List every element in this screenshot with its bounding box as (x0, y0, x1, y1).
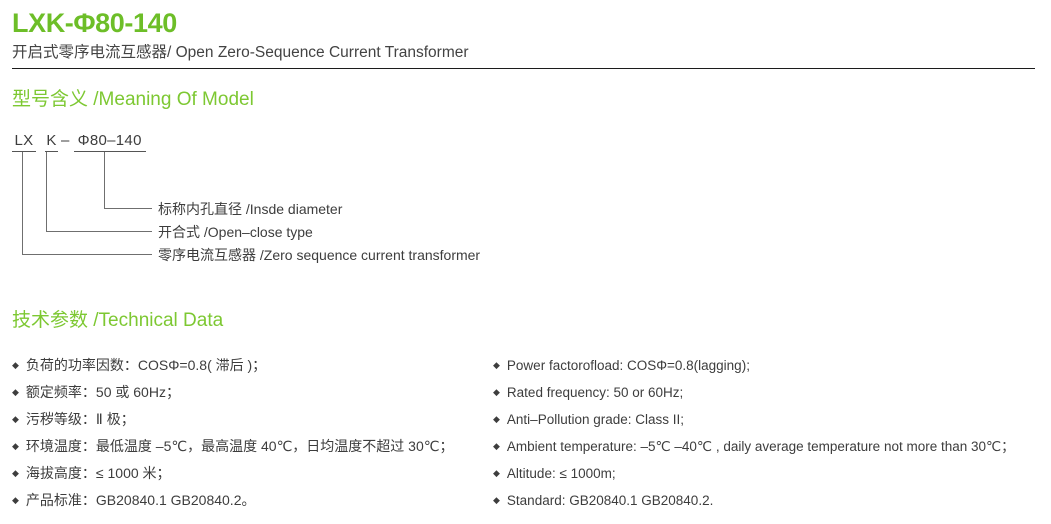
spec-text: 海拔高度：≤ 1000 米； (26, 460, 171, 487)
diamond-bullet-icon: ◆ (12, 406, 19, 433)
diamond-bullet-icon: ◆ (493, 352, 500, 379)
model-code-segment-type: K (45, 132, 58, 152)
spec-row: ◆ 海拔高度：≤ 1000 米； (12, 460, 482, 487)
callout-label-open-close: 开合式 /Open–close type (158, 224, 313, 241)
spec-row: ◆ 环境温度：最低温度 –5℃，最高温度 40℃，日均温度不超过 30℃； (12, 433, 482, 460)
spec-row: ◆ 负荷的功率因数：COSΦ=0.8( 滞后 )； (12, 352, 482, 379)
spec-text: Power factorofload: COSΦ=0.8(lagging); (507, 352, 750, 379)
model-code-segment-prefix: LX (12, 132, 36, 152)
spec-row: ◆ Rated frequency: 50 or 60Hz; (493, 379, 1043, 406)
section-heading-technical-data: 技术参数 /Technical Data (12, 310, 223, 333)
model-meaning-diagram: LXK–Φ80–140 标称内孔直径 /Insde diameter 开合式 /… (0, 125, 1051, 265)
diamond-bullet-icon: ◆ (493, 460, 500, 487)
diamond-bullet-icon: ◆ (493, 379, 500, 406)
spec-row: ◆ 污秽等级：Ⅱ 极； (12, 406, 482, 433)
spec-row: ◆ 额定频率：50 或 60Hz； (12, 379, 482, 406)
spec-text: 环境温度：最低温度 –5℃，最高温度 40℃，日均温度不超过 30℃； (26, 433, 454, 460)
spec-text: Altitude: ≤ 1000m; (507, 460, 616, 487)
diamond-bullet-icon: ◆ (12, 433, 19, 460)
spec-text: Standard: GB20840.1 GB20840.2. (507, 487, 713, 514)
diamond-bullet-icon: ◆ (12, 352, 19, 379)
product-header: LXK-Φ80-140 开启式零序电流互感器/ Open Zero-Sequen… (12, 8, 1037, 63)
callout-label-zero-sequence: 零序电流互感器 /Zero sequence current transform… (158, 247, 480, 264)
spec-text: Ambient temperature: –5℃ –40℃ , daily av… (507, 433, 1015, 460)
spec-text: 额定频率：50 或 60Hz； (26, 379, 180, 406)
spec-column-chinese: ◆ 负荷的功率因数：COSΦ=0.8( 滞后 )； ◆ 额定频率：50 或 60… (12, 352, 482, 514)
leader-run-open-close (46, 231, 152, 232)
leader-run-zero-sequence (22, 254, 152, 255)
spec-text: 产品标准：GB20840.1 GB20840.2。 (26, 487, 256, 514)
product-subtitle: 开启式零序电流互感器/ Open Zero-Sequence Current T… (12, 44, 1037, 63)
leader-run-diameter (104, 208, 152, 209)
diamond-bullet-icon: ◆ (493, 487, 500, 514)
spec-row: ◆ 产品标准：GB20840.1 GB20840.2。 (12, 487, 482, 514)
model-code-segment-diameter: Φ80–140 (74, 132, 146, 152)
model-code: LXK–Φ80–140 (12, 132, 146, 152)
diamond-bullet-icon: ◆ (493, 406, 500, 433)
leader-stem-open-close (46, 152, 47, 232)
spec-row: ◆ Altitude: ≤ 1000m; (493, 460, 1043, 487)
diamond-bullet-icon: ◆ (493, 433, 500, 460)
spec-text: 污秽等级：Ⅱ 极； (26, 406, 135, 433)
spec-row: ◆ Power factorofload: COSΦ=0.8(lagging); (493, 352, 1043, 379)
model-code-dash: – (58, 132, 73, 151)
section-heading-model-meaning: 型号含义 /Meaning Of Model (12, 89, 254, 112)
spec-row: ◆ Anti–Pollution grade: Class II; (493, 406, 1043, 433)
product-title: LXK-Φ80-140 (12, 8, 1037, 39)
diamond-bullet-icon: ◆ (12, 379, 19, 406)
callout-label-diameter: 标称内孔直径 /Insde diameter (158, 201, 342, 218)
diamond-bullet-icon: ◆ (12, 487, 19, 514)
diamond-bullet-icon: ◆ (12, 460, 19, 487)
spec-row: ◆ Standard: GB20840.1 GB20840.2. (493, 487, 1043, 514)
spec-text: Rated frequency: 50 or 60Hz; (507, 379, 683, 406)
leader-stem-diameter (104, 152, 105, 209)
spec-row: ◆ Ambient temperature: –5℃ –40℃ , daily … (493, 433, 1043, 460)
header-divider (12, 68, 1035, 69)
spec-text: Anti–Pollution grade: Class II; (507, 406, 684, 433)
spec-column-english: ◆ Power factorofload: COSΦ=0.8(lagging);… (493, 352, 1043, 514)
leader-stem-zero-sequence (22, 152, 23, 255)
spec-text: 负荷的功率因数：COSΦ=0.8( 滞后 )； (26, 352, 266, 379)
